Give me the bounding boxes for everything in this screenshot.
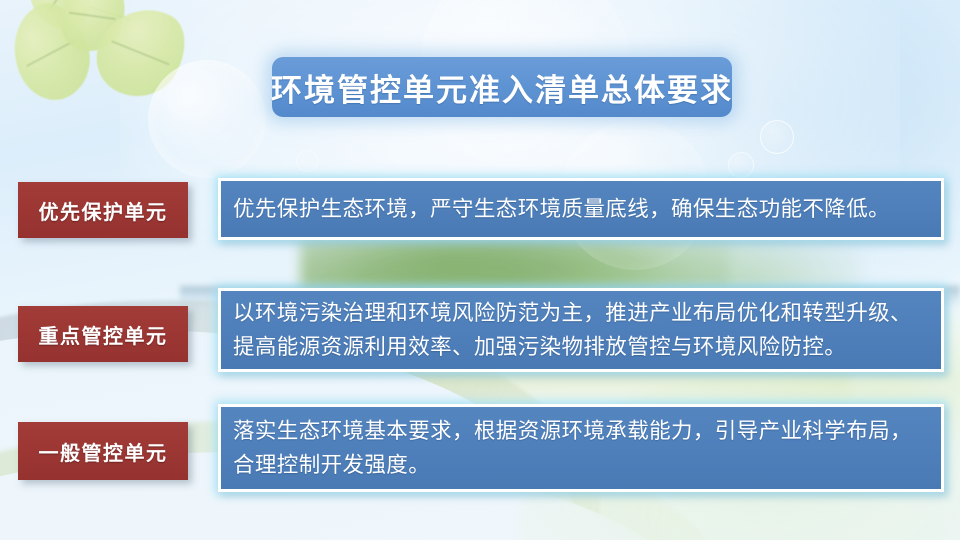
unit-category-label-text: 一般管控单元 [39, 437, 168, 466]
unit-category-label-text: 优先保护单元 [39, 196, 168, 225]
unit-category-label-key-control[interactable]: 重点管控单元 [18, 306, 188, 362]
unit-category-label-text: 重点管控单元 [39, 320, 168, 349]
requirement-content-box-priority-protection[interactable]: 优先保护生态环境，严守生态环境质量底线，确保生态功能不降低。 [218, 178, 944, 240]
bubble-ring-icon [728, 152, 754, 178]
requirement-content-box-general-control[interactable]: 落实生态环境基本要求，根据资源环境承载能力，引导产业科学布局，合理控制开发强度。 [218, 404, 944, 492]
bubble-icon [148, 60, 266, 178]
requirement-content-text: 以环境污染治理和环境风险防范为主，推进产业布局优化和转型升级、提高能源资源利用效… [233, 296, 931, 364]
bubble-ring-icon [760, 120, 794, 154]
unit-category-label-general-control[interactable]: 一般管控单元 [18, 422, 188, 480]
slide-title-banner: 环境管控单元准入清单总体要求 [272, 57, 732, 117]
bubble-ring-icon [296, 150, 318, 172]
requirement-content-box-key-control[interactable]: 以环境污染治理和环境风险防范为主，推进产业布局优化和转型升级、提高能源资源利用效… [218, 288, 944, 372]
requirement-content-text: 落实生态环境基本要求，根据资源环境承载能力，引导产业科学布局，合理控制开发强度。 [233, 414, 931, 482]
requirement-content-text: 优先保护生态环境，严守生态环境质量底线，确保生态功能不降低。 [233, 192, 890, 226]
page-title: 环境管控单元准入清单总体要求 [271, 65, 733, 110]
unit-category-label-priority-protection[interactable]: 优先保护单元 [18, 182, 188, 238]
slide-canvas: 环境管控单元准入清单总体要求 优先保护单元 优先保护生态环境，严守生态环境质量底… [0, 0, 960, 540]
